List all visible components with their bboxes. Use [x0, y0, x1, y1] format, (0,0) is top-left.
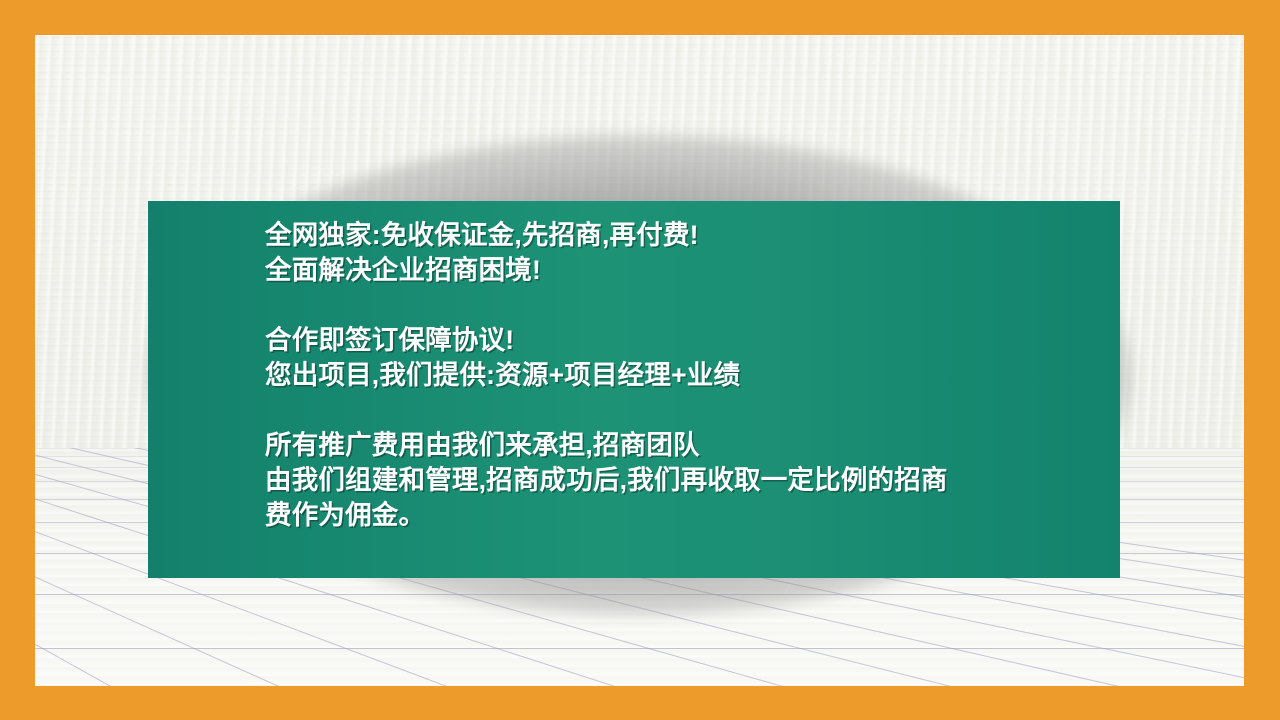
text-line-spacer: [265, 288, 1110, 323]
floor-tile-line-horizontal: [35, 648, 1244, 649]
presentation-stage: 全网独家:免收保证金,先招商,再付费!全面解决企业招商困境!合作即签订保障协议!…: [35, 35, 1244, 686]
text-line-spacer: [265, 393, 1110, 428]
green-message-card: 全网独家:免收保证金,先招商,再付费!全面解决企业招商困境!合作即签订保障协议!…: [148, 201, 1120, 578]
card-text-line: 您出项目,我们提供:资源+项目经理+业绩: [265, 358, 1110, 393]
card-text-line: 费作为佣金。: [265, 498, 1110, 533]
card-text-line: 合作即签订保障协议!: [265, 323, 1110, 358]
card-text-line: 全网独家:免收保证金,先招商,再付费!: [265, 218, 1110, 253]
card-text-line: 全面解决企业招商困境!: [265, 253, 1110, 288]
card-text-block: 全网独家:免收保证金,先招商,再付费!全面解决企业招商困境!合作即签订保障协议!…: [265, 218, 1110, 533]
card-text-line: 所有推广费用由我们来承担,招商团队: [265, 428, 1110, 463]
slide-canvas: 全网独家:免收保证金,先招商,再付费!全面解决企业招商困境!合作即签订保障协议!…: [0, 0, 1280, 720]
card-text-line: 由我们组建和管理,招商成功后,我们再收取一定比例的招商: [265, 463, 1110, 498]
